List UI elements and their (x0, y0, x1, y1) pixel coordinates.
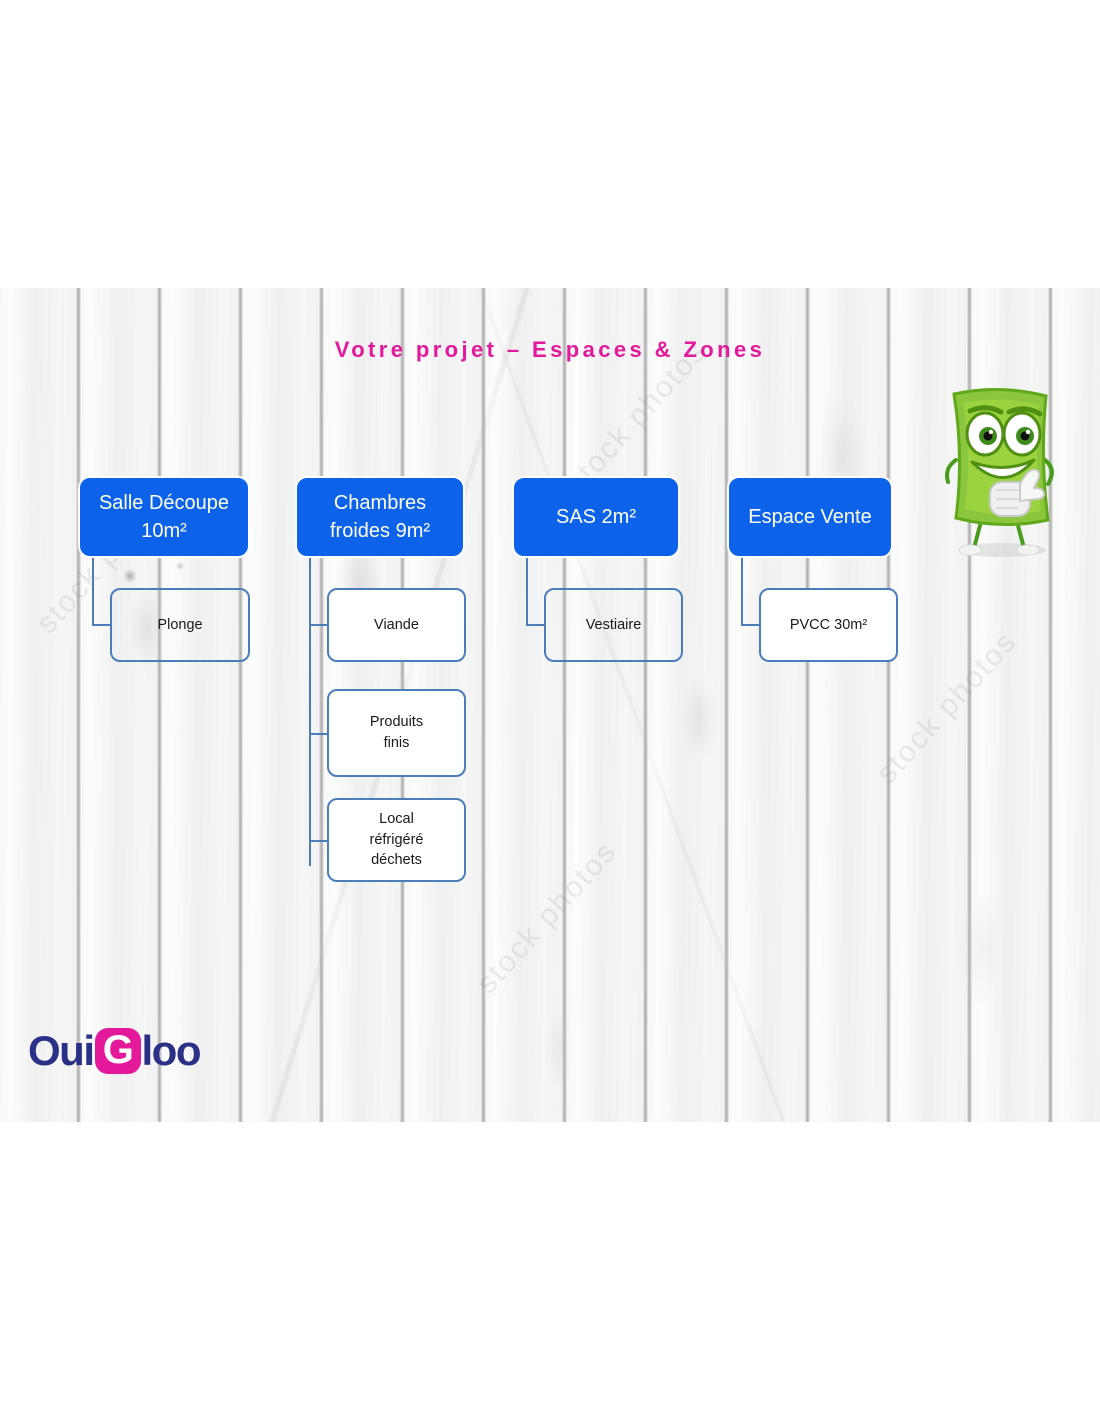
node-label-line: finis (370, 733, 423, 754)
node-label-line: Local (370, 809, 424, 830)
node-local-refrigere-dechets[interactable]: Local réfrigéré déchets (327, 798, 466, 882)
node-label-line: déchets (370, 850, 424, 871)
node-pvcc[interactable]: PVCC 30m² (759, 588, 898, 662)
node-produits-finis[interactable]: Produits finis (327, 689, 466, 777)
node-label-line: froides 9m² (330, 517, 430, 545)
node-label-line: Salle Découpe (99, 489, 229, 517)
node-sas[interactable]: SAS 2m² (512, 476, 680, 558)
node-viande[interactable]: Viande (327, 588, 466, 662)
connector-vertical-col2 (309, 558, 311, 866)
connector-vertical-col1 (92, 558, 94, 626)
slide-page: stock photos stock photos stock photos s… (0, 0, 1100, 1422)
connector-vertical-col3 (526, 558, 528, 626)
connector-horizontal-col4-child1 (741, 624, 761, 626)
mascot-green-banknote-thumbs-up (930, 378, 1070, 558)
connector-horizontal-col3-child1 (526, 624, 546, 626)
connector-horizontal-col1-child1 (92, 624, 112, 626)
logo-text-oui: Oui (28, 1027, 94, 1075)
node-label-line: SAS 2m² (556, 503, 636, 531)
node-label-line: Chambres (330, 489, 430, 517)
node-label-line: 10m² (99, 517, 229, 545)
connector-vertical-col4 (741, 558, 743, 626)
connector-horizontal-col2-child3 (309, 840, 329, 842)
slide-title: Votre projet – Espaces & Zones (0, 337, 1100, 363)
node-label-line: Vestiaire (586, 615, 642, 636)
node-label-line: Espace Vente (748, 503, 871, 531)
ouigloo-logo[interactable]: Oui G loo (28, 1028, 200, 1074)
node-espace-vente[interactable]: Espace Vente (727, 476, 893, 558)
node-salle-decoupe[interactable]: Salle Découpe 10m² (78, 476, 250, 558)
node-label-line: Plonge (157, 615, 202, 636)
node-label-line: réfrigéré (370, 830, 424, 851)
connector-horizontal-col2-child1 (309, 624, 329, 626)
logo-badge-g: G (95, 1028, 141, 1074)
watermark-text: stock photos (470, 835, 624, 1001)
node-chambres-froides[interactable]: Chambres froides 9m² (295, 476, 465, 558)
node-label-line: Viande (374, 615, 419, 636)
node-plonge[interactable]: Plonge (110, 588, 250, 662)
logo-text-loo: loo (142, 1027, 200, 1075)
node-label-line: PVCC 30m² (790, 615, 867, 636)
connector-horizontal-col2-child2 (309, 733, 329, 735)
node-vestiaire[interactable]: Vestiaire (544, 588, 683, 662)
node-label-line: Produits (370, 712, 423, 733)
